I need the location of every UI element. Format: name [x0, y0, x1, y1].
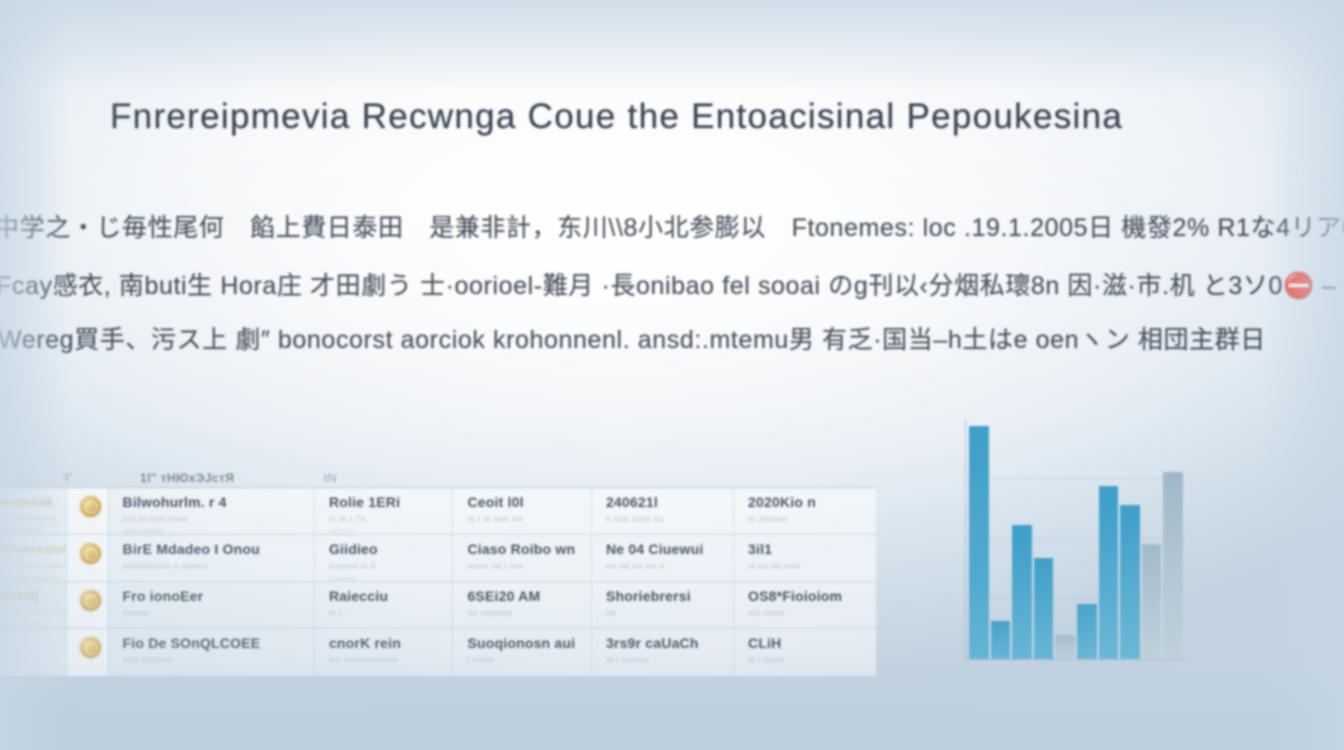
- table-cell-name: Bilwohurlm. r 4 inn in nmi nnnn nnnn nnn…: [109, 488, 315, 534]
- cell-secondary-text: n nnn innii nn: [606, 514, 723, 525]
- cell-tertiary-text: i i nnnn: [329, 574, 443, 581]
- table-header-row: ‘I’ 1l″ тHЮхЭJстЯ tN: [62, 468, 382, 488]
- chart-bar: [1142, 544, 1162, 659]
- table-cell-type: Rolie 1ERi in in i·7n nii i i i i: [315, 488, 454, 534]
- badge-caption: ····: [86, 520, 95, 528]
- badge-caption: ·····: [85, 567, 96, 575]
- table-cell-status: Suoqionosn aui i nnnn: [453, 629, 592, 676]
- cell-secondary-text: nn nnnnnn: [467, 608, 581, 619]
- cell-primary-text: Suoqionosn aui: [467, 636, 581, 650]
- cell-primary-text: Fio De SOnQLCOEE: [123, 636, 304, 650]
- table-cell-type: Raiecciu in i: [315, 582, 454, 628]
- cell-secondary-text: nn nn nn nn n: [606, 561, 723, 572]
- chart-bars: [967, 419, 1185, 659]
- gold-seal-icon: [80, 637, 101, 658]
- cell-secondary-text: inn in nmi nnnn: [123, 514, 304, 525]
- table-cell-value: Shoriebrersi nii: [592, 582, 734, 628]
- data-table[interactable]: annesak iuuuuououuu inn iuu oou ···· Bil…: [0, 487, 876, 677]
- cell-secondary-text: uuuiuuuuuuuuu: [0, 560, 56, 571]
- table-cell-id: no3alj uuuuuuiu uuuuu uuuuuuuuuu: [0, 582, 67, 628]
- cell-primary-text: Bilwohurlm. r 4: [123, 495, 304, 509]
- table-cell-name: Fio De SOnQLCOEE nnn nnnnnn: [109, 629, 315, 676]
- cell-tertiary-text: uuuuiuuuuuuuuu: [0, 573, 56, 581]
- chart-x-tick-label: [1033, 663, 1053, 669]
- cell-primary-text: iniseccoues: [0, 542, 56, 555]
- cell-primary-text: Ciaso Roibo wn: [467, 542, 581, 556]
- table-cell-name: Fro ionoEer nnnnn: [109, 582, 315, 628]
- badge-caption: ···: [87, 661, 94, 669]
- document-content: Fnrereipmevia Recwnga Coue the Entoacisi…: [0, 0, 1344, 750]
- cell-secondary-text: ni i nnnn: [748, 655, 866, 666]
- body-paragraph-line: Wereg買手、污ス上 劇″ bonocorst aorciok krohonn…: [0, 320, 1266, 356]
- table-cell-id: [0, 629, 67, 676]
- chart-x-tick-label: · ··: [1077, 663, 1097, 669]
- table-header-cell: 1l″ тHЮхЭJстЯ: [140, 471, 280, 485]
- cell-primary-text: CLiH: [748, 636, 866, 650]
- cell-tertiary-text: nii i i i i: [329, 527, 443, 534]
- cell-primary-text: Rolie 1ERi: [329, 495, 443, 509]
- chart-x-tick-label: [1164, 663, 1184, 669]
- gold-seal-icon: [80, 590, 101, 611]
- table-cell-type: cnorK rein inn nnnnnnnnnn: [315, 629, 454, 676]
- cell-primary-text: cnorK rein: [329, 636, 443, 650]
- cell-secondary-text: inn nnnnnnnnnn: [329, 655, 443, 666]
- table-row[interactable]: ··· Fio De SOnQLCOEE nnn nnnnnn cnorK re…: [0, 629, 876, 676]
- cell-primary-text: 3il1: [748, 542, 866, 556]
- chart-bar: [1055, 635, 1075, 659]
- chart-x-tick-label: [990, 663, 1010, 669]
- table-cell-extra: 3il1 ni nii nn nnn: [734, 535, 876, 581]
- cell-secondary-text: ni 3innnn: [748, 514, 866, 525]
- cell-tertiary-text: inn iuu oou: [0, 526, 56, 534]
- cell-primary-text: Shoriebrersi: [606, 589, 723, 603]
- table-cell-type: Giidieo innnnn in ii i i nnnn: [315, 535, 454, 581]
- chart-bar: [1120, 505, 1140, 659]
- chart-bar: [1012, 525, 1032, 659]
- chart-x-tick-label: ···: [968, 663, 988, 669]
- chart-bar: [1077, 604, 1097, 659]
- cell-secondary-text: i nnnn: [467, 655, 581, 666]
- cell-primary-text: BirE Mdadeo I Onou: [123, 542, 304, 556]
- table-cell-badge: ····: [67, 582, 108, 628]
- chart-bar: [969, 426, 989, 659]
- table-cell-extra: 2020Kio n ni 3innnn: [734, 488, 876, 534]
- cell-secondary-text: nin nnnn: [748, 608, 866, 619]
- page-title: Fnrereipmevia Recwnga Coue the Entoacisi…: [110, 97, 1270, 137]
- cell-primary-text: annesak: [0, 495, 56, 508]
- chart-x-axis-ticks: ······ ·······: [966, 663, 1186, 669]
- cell-secondary-text: in i: [329, 608, 443, 619]
- chart-plot-area: [965, 420, 1185, 660]
- table-cell-badge: ···: [67, 629, 108, 676]
- cell-secondary-text: iuuuuououuu: [0, 513, 56, 524]
- cell-primary-text: no3alj: [0, 589, 56, 602]
- chart-x-tick-label: ···: [1121, 663, 1141, 669]
- cell-secondary-text: innnnn in ii: [329, 561, 443, 572]
- cell-secondary-text: nnn nnnnnn: [123, 655, 304, 666]
- cell-secondary-text: nii: [606, 608, 723, 619]
- table-header-cell: ‘I’: [62, 471, 96, 485]
- cell-primary-text: Ceoit l0l: [467, 495, 581, 509]
- cell-primary-text: Fro ionoEer: [123, 589, 304, 603]
- cell-secondary-text: ni i ni nnn nn: [467, 514, 581, 525]
- cell-primary-text: 240621l: [606, 495, 723, 509]
- table-cell-id: iniseccoues uuuiuuuuuuuuu uuuuiuuuuuuuuu: [0, 535, 67, 581]
- table-row[interactable]: iniseccoues uuuiuuuuuuuuu uuuuiuuuuuuuuu…: [0, 535, 876, 582]
- cell-tertiary-text: nnnn nnnnn: [123, 527, 304, 534]
- document-screenshot: Fnrereipmevia Recwnga Coue the Entoacisi…: [0, 0, 1344, 750]
- badge-caption: ····: [86, 614, 95, 622]
- table-row[interactable]: annesak iuuuuououuu inn iuu oou ···· Bil…: [0, 488, 876, 535]
- chart-bar: [1163, 472, 1183, 659]
- table-row[interactable]: no3alj uuuuuuiu uuuuu uuuuuuuuuu ···· Fr…: [0, 582, 876, 629]
- cell-secondary-text: nnnnn: [123, 608, 304, 619]
- table-header-cell: tN: [324, 471, 364, 485]
- table-cell-value: Ne 04 Ciuewui nn nn nn nn n: [592, 535, 734, 581]
- table-cell-id: annesak iuuuuououuu inn iuu oou: [0, 488, 67, 534]
- chart-bar: [1099, 486, 1119, 659]
- cell-secondary-text: nnnnnnnnn n nnnnn: [123, 561, 304, 572]
- gold-seal-icon: [80, 543, 101, 564]
- body-paragraph-line: 中学之・じ毎性尾何 餡上費日泰田 是兼非計，东川\\8小北参膨以 Ftoneme…: [0, 208, 1344, 244]
- cell-secondary-text: ni nii nn nnn: [748, 561, 866, 572]
- gold-seal-icon: [80, 496, 101, 517]
- table-cell-name: BirE Mdadeo I Onou nnnnnnnnn n nnnnn: [109, 535, 315, 581]
- cell-secondary-text: ni i nnnnn: [606, 655, 723, 666]
- cell-primary-text: 3rs9r caUaCh: [606, 636, 723, 650]
- table-cell-extra: OS8*Fioioiom nin nnnn: [734, 582, 876, 628]
- table-cell-status: Ciaso Roibo wn nnnn nn i nni: [453, 535, 592, 581]
- table-cell-value: 240621l n nnn innii nn: [592, 488, 734, 534]
- body-paragraph-line: Fcay感衣, 南buti生 Hora庄 才田劇う 士·oorioel-難月 ·…: [0, 266, 1344, 302]
- table-cell-status: 6SEi20 AM nn nnnnnn: [453, 582, 592, 628]
- table-cell-extra: CLiH ni i nnnn: [734, 629, 876, 676]
- chart-bar: [991, 621, 1011, 659]
- chart-x-tick-label: ··: [1142, 663, 1162, 669]
- cell-primary-text: Giidieo: [329, 542, 443, 556]
- cell-primary-text: 2020Kio n: [748, 495, 866, 509]
- table-cell-badge: ····: [67, 488, 108, 534]
- table-cell-value: 3rs9r caUaCh ni i nnnnn: [592, 629, 734, 676]
- cell-primary-text: Raiecciu: [329, 589, 443, 603]
- cell-secondary-text: nnnn nn i nni: [467, 561, 581, 572]
- table-cell-badge: ·····: [67, 535, 108, 581]
- chart-x-tick-label: ··: [1055, 663, 1075, 669]
- cell-secondary-text: in in i·7n: [329, 514, 443, 525]
- chart-bar: [1034, 558, 1054, 659]
- cell-secondary-text: uuuuuuiu uuuuu: [0, 607, 56, 618]
- cell-tertiary-text: uuuuuuuuuu: [0, 620, 56, 628]
- chart-x-tick-label: [1012, 663, 1032, 669]
- cell-primary-text: OS8*Fioioiom: [748, 589, 866, 603]
- bar-chart: ······ ·······: [955, 420, 1195, 678]
- table-cell-status: Ceoit l0l ni i ni nnn nn: [453, 488, 592, 534]
- cell-primary-text: 6SEi20 AM: [467, 589, 581, 603]
- cell-primary-text: Ne 04 Ciuewui: [606, 542, 723, 556]
- chart-x-tick-label: [1099, 663, 1119, 669]
